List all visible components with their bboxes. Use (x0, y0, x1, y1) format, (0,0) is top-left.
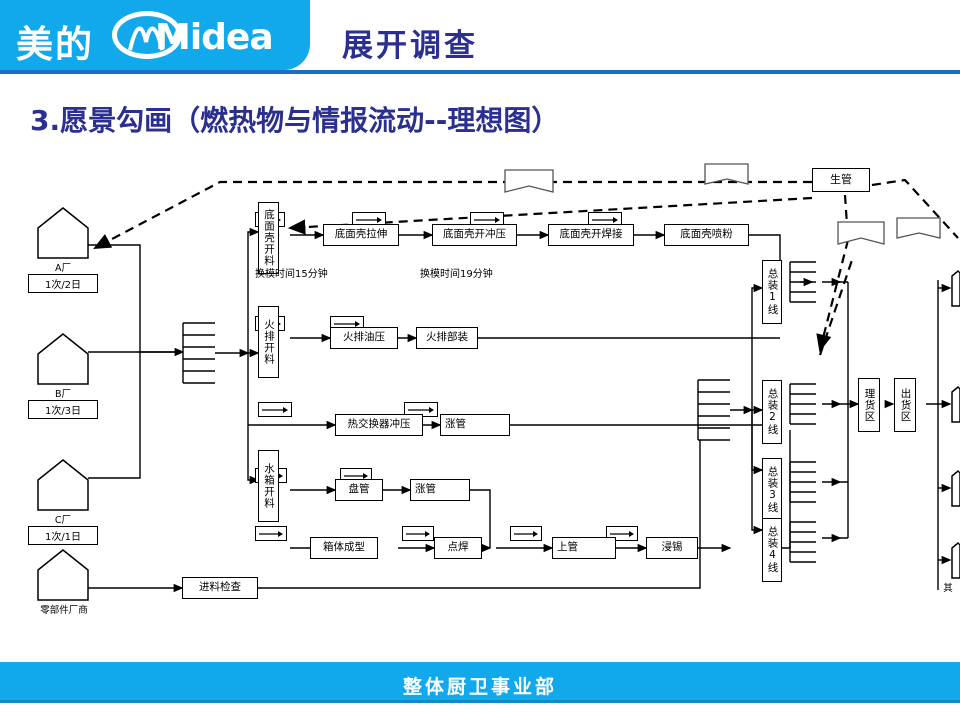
process-box-tin-dipping[interactable]: 浸锡 (646, 537, 698, 559)
process-box-shell-stamping[interactable]: 底面壳开冲压 (432, 224, 517, 246)
process-box-tube-mounting[interactable]: 上管 (552, 537, 616, 559)
manual-info-flag (505, 170, 553, 192)
process-box-burner-subassembly[interactable]: 火排部装 (416, 327, 478, 349)
slide-header: 美的 Midea 展开调查 (0, 0, 960, 78)
manual-info-flag (897, 218, 940, 238)
process-box-tank-cutting[interactable]: 水箱开料 (258, 450, 279, 522)
customer-house-icon (952, 471, 960, 506)
supplier-label-c: C厂 (33, 512, 93, 526)
brand-latin-name: Midea (155, 17, 273, 58)
process-box-assembly-line-2[interactable]: 总装2线 (762, 380, 782, 444)
process-box-sorting-area[interactable]: 理货区 (858, 378, 880, 432)
changeover-note-1: 换模时间15分钟 (255, 265, 328, 280)
supplier-frequency-a: 1次/2日 (28, 274, 98, 293)
kanban-card-icon (402, 526, 434, 541)
header-divider-highlight (0, 74, 960, 76)
process-box-assembly-line-4[interactable]: 总装4线 (762, 518, 782, 582)
footer-title: 整体厨卫事业部 (0, 672, 960, 699)
footer-divider (0, 700, 960, 703)
process-box-exchanger-expansion[interactable]: 涨管 (440, 414, 510, 436)
factory-house-icon (38, 208, 88, 258)
kanban-card-icon (258, 402, 292, 417)
midea-logo-panel: 美的 Midea (0, 0, 310, 70)
supplier-frequency-c: 1次/1日 (28, 526, 98, 545)
process-box-shipping-area[interactable]: 出货区 (894, 378, 916, 432)
process-box-shell-cutting[interactable]: 底面壳开料 (258, 202, 279, 274)
brand-chinese-name: 美的 (16, 14, 94, 68)
slide-root: 美的 Midea 展开调查 3.愿景勾画（燃热物与情报流动--理想图） (0, 0, 960, 720)
supplier-label-b: B厂 (33, 386, 93, 400)
production-control-box[interactable]: 生管 (812, 168, 870, 192)
factory-house-icon (38, 460, 88, 510)
manual-info-flag (838, 222, 884, 244)
process-box-coil[interactable]: 盘管 (335, 479, 383, 501)
value-stream-map: A厂 1次/2日 B厂 1次/3日 C厂 1次/1日 零部件厂商 其 生管 底面… (0, 140, 960, 650)
factory-house-icon (38, 334, 88, 384)
manual-info-flag (705, 164, 748, 184)
process-box-exchanger-stamping[interactable]: 热交换器冲压 (335, 414, 423, 436)
kanban-card-icon (510, 526, 542, 541)
supplier-label-a: A厂 (33, 260, 93, 274)
process-box-incoming-inspection[interactable]: 进料检查 (182, 577, 258, 599)
changeover-note-2: 换模时间19分钟 (420, 265, 493, 280)
supplier-frequency-b: 1次/3日 (28, 400, 98, 419)
customer-house-icon (952, 387, 960, 422)
process-box-assembly-line-1[interactable]: 总装1线 (762, 260, 782, 324)
supplier-label-parts: 零部件厂商 (18, 602, 110, 616)
page-title: 3.愿景勾画（燃热物与情报流动--理想图） (30, 99, 559, 139)
kanban-card-icon (255, 526, 287, 541)
process-box-assembly-line-3[interactable]: 总装3线 (762, 458, 782, 522)
process-box-shell-welding[interactable]: 底面壳开焊接 (548, 224, 634, 246)
process-box-coil-expansion[interactable]: 涨管 (410, 479, 470, 501)
process-box-burner-cutting[interactable]: 火排开料 (258, 306, 279, 378)
process-box-shell-stretch[interactable]: 底面壳拉伸 (323, 224, 399, 246)
process-box-shell-coating[interactable]: 底面壳喷粉 (664, 224, 749, 246)
factory-house-icon (38, 550, 88, 600)
customer-house-icon (952, 271, 960, 306)
process-box-tank-forming[interactable]: 箱体成型 (310, 537, 378, 559)
process-box-spot-welding[interactable]: 点焊 (434, 537, 482, 559)
customer-house-icon (952, 543, 960, 578)
process-box-burner-hydraulic[interactable]: 火排油压 (330, 327, 398, 349)
customer-label-other: 其 (938, 580, 958, 594)
header-title: 展开调查 (342, 20, 478, 65)
